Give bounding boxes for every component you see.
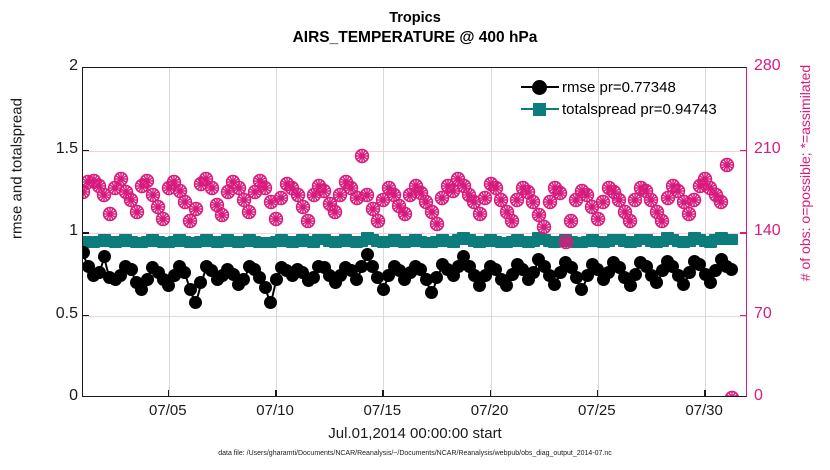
y-tick-label-left: 0.5: [18, 305, 78, 323]
y-axis-right-label: # of obs: o=possible; *=assimilated: [797, 8, 813, 338]
data-point-obs-count: [102, 206, 118, 222]
data-point-rmse: [361, 248, 374, 261]
data-point-obs-count: [536, 219, 552, 235]
chart-figure: Tropics AIRS_TEMPERATURE @ 400 hPa 00.51…: [0, 0, 830, 470]
data-point-obs-count: [241, 204, 257, 220]
data-point-obs-count: [214, 207, 230, 223]
data-point-rmse: [725, 263, 738, 276]
x-tick-mark: [168, 390, 170, 397]
data-point-rmse: [125, 263, 138, 276]
legend-marker-square-icon: [519, 99, 561, 119]
data-point-rmse: [189, 296, 202, 309]
data-point-obs-count: [552, 185, 568, 201]
chart-title: Tropics AIRS_TEMPERATURE @ 400 hPa: [0, 8, 830, 48]
data-point-rmse: [677, 278, 690, 291]
data-point-rmse: [425, 286, 438, 299]
data-point-obs-count: [300, 213, 316, 229]
y-tick-mark-right: [740, 315, 747, 317]
data-point-obs-count: [155, 211, 171, 227]
data-point-rmse: [178, 266, 191, 279]
data-point-obs-count: [204, 180, 220, 196]
grid-line-horizontal: [83, 151, 746, 152]
data-point-obs-count: [327, 204, 343, 220]
data-point-obs-count: [504, 213, 520, 229]
y-tick-mark-left: [82, 315, 89, 317]
data-point-rmse: [264, 296, 277, 309]
x-axis-label: Jul.01,2014 00:00:00 start: [0, 425, 830, 442]
data-point-rmse: [548, 278, 561, 291]
grid-line-horizontal: [83, 316, 746, 317]
y-tick-label-left: 2: [18, 57, 78, 75]
x-tick-mark: [382, 390, 384, 397]
data-point-obs-count: [129, 204, 145, 220]
data-point-rmse: [350, 273, 363, 286]
data-point-rmse: [237, 273, 250, 286]
x-tick-label: 07/25: [557, 402, 637, 419]
data-point-rmse: [377, 283, 390, 296]
x-tick-label: 07/20: [450, 402, 530, 419]
chart-legend: rmse pr=0.77348 totalspread pr=0.94743: [519, 76, 717, 120]
data-point-rmse: [624, 279, 637, 292]
legend-item-rmse[interactable]: rmse pr=0.77348: [519, 76, 717, 98]
data-point-obs-count: [472, 206, 488, 222]
x-tick-mark: [597, 390, 599, 397]
data-point-rmse: [307, 271, 320, 284]
data-point-obs-count: [188, 201, 204, 217]
data-point-obs-count: [558, 234, 574, 250]
data-point-obs-count: [370, 213, 386, 229]
data-file-caption: data file: /Users/gharamti/Documents/NCA…: [0, 450, 830, 457]
data-point-rmse: [259, 281, 272, 294]
x-tick-label: 07/10: [235, 402, 315, 419]
data-point-rmse: [500, 279, 513, 292]
x-tick-mark: [704, 390, 706, 397]
data-point-rmse: [98, 250, 111, 263]
grid-line-vertical: [491, 68, 492, 396]
data-point-obs-count: [563, 213, 579, 229]
legend-label-totalspread: totalspread pr=0.94743: [561, 101, 717, 118]
title-line-variable: AIRS_TEMPERATURE @ 400 hPa: [0, 28, 830, 48]
y-tick-label-left: 1: [18, 222, 78, 240]
data-point-rmse: [704, 276, 717, 289]
data-point-obs-count: [724, 390, 740, 396]
data-point-obs-count: [719, 157, 735, 173]
data-point-rmse: [194, 276, 207, 289]
grid-line-vertical: [169, 68, 170, 396]
y-tick-label-left: 1.5: [18, 140, 78, 158]
y-tick-label-right: 0: [754, 387, 814, 405]
x-tick-label: 07/15: [342, 402, 422, 419]
data-point-rmse: [83, 246, 90, 259]
x-tick-mark: [490, 390, 492, 397]
data-point-obs-count: [354, 148, 370, 164]
y-tick-label-left: 0: [18, 387, 78, 405]
data-point-rmse: [575, 283, 588, 296]
x-tick-mark: [275, 390, 277, 397]
x-tick-label: 07/30: [664, 402, 744, 419]
data-point-obs-count: [590, 211, 606, 227]
legend-label-rmse: rmse pr=0.77348: [561, 79, 676, 96]
y-axis-left-label: rmse and totalspread: [9, 4, 26, 334]
y-tick-mark-left: [82, 150, 89, 152]
x-tick-label: 07/05: [128, 402, 208, 419]
y-tick-mark-right: [740, 150, 747, 152]
data-point-obs-count: [654, 213, 670, 229]
legend-item-totalspread[interactable]: totalspread pr=0.94743: [519, 98, 717, 120]
data-point-obs-count: [681, 206, 697, 222]
data-point-obs-count: [268, 211, 284, 227]
data-point-obs-count: [429, 216, 445, 232]
data-point-rmse: [650, 276, 663, 289]
y-tick-mark-left: [82, 232, 89, 234]
data-point-obs-count: [622, 213, 638, 229]
grid-line-vertical: [276, 68, 277, 396]
data-point-obs-count: [397, 206, 413, 222]
legend-marker-circle-icon: [519, 77, 561, 97]
title-line-region: Tropics: [0, 8, 830, 28]
data-point-totalspread: [725, 234, 738, 245]
y-tick-mark-right: [740, 232, 747, 234]
grid-line-vertical: [383, 68, 384, 396]
data-point-obs-count: [713, 194, 729, 210]
data-point-obs-count: [686, 192, 702, 208]
